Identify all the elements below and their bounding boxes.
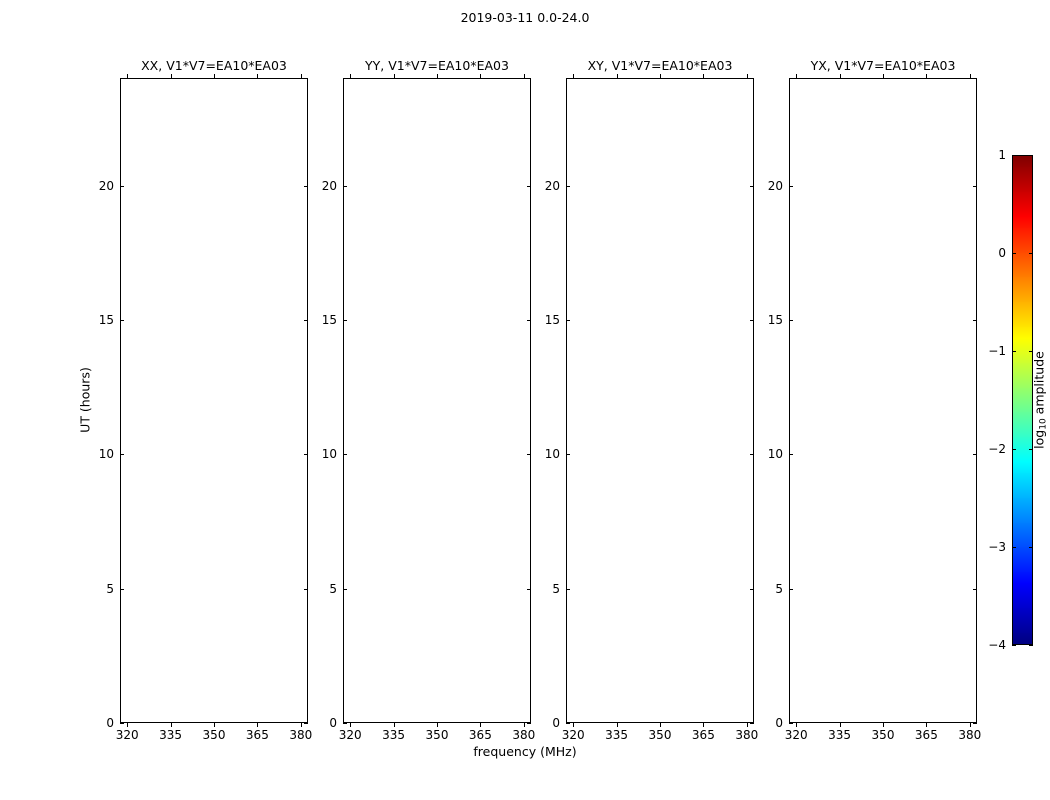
colorbar-tick-mark-right — [1029, 645, 1033, 646]
x-tick-mark-top — [480, 74, 481, 78]
y-tick-mark-right — [750, 723, 754, 724]
x-tick-label: 350 — [203, 723, 226, 742]
y-tick-mark — [120, 186, 124, 187]
y-tick-mark-right — [750, 186, 754, 187]
y-tick-mark — [343, 186, 347, 187]
x-tick-label: 365 — [246, 723, 269, 742]
panel-xy[interactable]: XY, V1*V7=EA10*EA03320335350365380051015… — [566, 78, 754, 723]
y-tick-label: 20 — [768, 179, 789, 193]
y-tick-label: 20 — [322, 179, 343, 193]
x-tick-label: 335 — [382, 723, 405, 742]
colorbar-tick-label: −2 — [988, 442, 1012, 456]
x-tick-mark-top — [926, 74, 927, 78]
x-tick-mark-top — [214, 74, 215, 78]
y-tick-label: 15 — [545, 313, 566, 327]
x-tick-label: 350 — [426, 723, 449, 742]
colorbar-tick-mark — [1012, 351, 1016, 352]
x-tick-label: 335 — [828, 723, 851, 742]
y-tick-label: 15 — [322, 313, 343, 327]
y-tick-mark — [343, 320, 347, 321]
y-tick-label: 5 — [775, 582, 789, 596]
y-tick-mark — [789, 589, 793, 590]
y-tick-label: 0 — [329, 716, 343, 730]
y-tick-label: 10 — [768, 447, 789, 461]
x-tick-mark-top — [350, 74, 351, 78]
y-tick-mark-right — [750, 454, 754, 455]
x-tick-mark-top — [747, 74, 748, 78]
y-tick-mark — [343, 454, 347, 455]
x-tick-mark-top — [796, 74, 797, 78]
x-tick-label: 365 — [915, 723, 938, 742]
y-tick-mark-right — [527, 186, 531, 187]
x-tick-mark-top — [840, 74, 841, 78]
x-tick-mark-top — [883, 74, 884, 78]
y-tick-label: 0 — [106, 716, 120, 730]
y-tick-label: 5 — [106, 582, 120, 596]
panel-frame-xy — [566, 78, 754, 723]
x-tick-mark-top — [970, 74, 971, 78]
colorbar-tick-label: −4 — [988, 638, 1012, 652]
x-tick-mark-top — [394, 74, 395, 78]
x-tick-mark-top — [171, 74, 172, 78]
y-tick-mark — [789, 454, 793, 455]
y-tick-label: 5 — [329, 582, 343, 596]
x-tick-label: 350 — [649, 723, 672, 742]
y-tick-mark-right — [973, 723, 977, 724]
y-tick-mark — [566, 723, 570, 724]
y-tick-mark-right — [304, 589, 308, 590]
x-tick-label: 380 — [958, 723, 981, 742]
colorbar[interactable]: 10−1−2−3−4 — [1012, 155, 1033, 645]
x-tick-label: 380 — [735, 723, 758, 742]
y-tick-mark-right — [527, 454, 531, 455]
x-tick-mark-top — [660, 74, 661, 78]
colorbar-tick-mark — [1012, 547, 1016, 548]
y-tick-mark-right — [973, 454, 977, 455]
y-tick-label: 20 — [545, 179, 566, 193]
y-tick-label: 10 — [545, 447, 566, 461]
x-tick-mark-top — [524, 74, 525, 78]
x-tick-mark-top — [301, 74, 302, 78]
y-tick-mark — [120, 454, 124, 455]
y-tick-mark — [566, 589, 570, 590]
panel-xx[interactable]: XX, V1*V7=EA10*EA03320335350365380051015… — [120, 78, 308, 723]
y-tick-mark-right — [973, 589, 977, 590]
x-tick-label: 365 — [469, 723, 492, 742]
y-axis-label: UT (hours) — [77, 367, 92, 433]
y-tick-mark-right — [973, 186, 977, 187]
colorbar-label: log10 amplitude — [1031, 351, 1048, 449]
y-tick-mark-right — [527, 320, 531, 321]
y-tick-mark-right — [304, 320, 308, 321]
colorbar-tick-mark-right — [1029, 253, 1033, 254]
y-tick-mark — [566, 186, 570, 187]
x-tick-mark-top — [703, 74, 704, 78]
colorbar-tick-label: −1 — [988, 344, 1012, 358]
y-tick-label: 0 — [775, 716, 789, 730]
colorbar-tick-label: −3 — [988, 540, 1012, 554]
colorbar-tick-label: 0 — [998, 246, 1012, 260]
colorbar-tick-mark — [1012, 155, 1016, 156]
y-tick-mark-right — [304, 723, 308, 724]
y-tick-mark-right — [527, 723, 531, 724]
x-axis-label: frequency (MHz) — [0, 744, 1050, 759]
x-tick-label: 380 — [512, 723, 535, 742]
y-tick-mark — [789, 186, 793, 187]
y-tick-mark — [566, 320, 570, 321]
y-tick-mark-right — [304, 186, 308, 187]
y-tick-mark-right — [973, 320, 977, 321]
y-tick-mark — [120, 589, 124, 590]
x-tick-mark-top — [573, 74, 574, 78]
y-tick-label: 10 — [99, 447, 120, 461]
colorbar-tick-mark-right — [1029, 155, 1033, 156]
colorbar-tick-mark — [1012, 645, 1016, 646]
y-tick-mark — [789, 723, 793, 724]
x-tick-label: 380 — [289, 723, 312, 742]
colorbar-tick-mark — [1012, 253, 1016, 254]
x-tick-label: 335 — [159, 723, 182, 742]
y-tick-mark-right — [750, 320, 754, 321]
y-tick-mark-right — [304, 454, 308, 455]
x-tick-mark-top — [617, 74, 618, 78]
panel-yx[interactable]: YX, V1*V7=EA10*EA03320335350365380051015… — [789, 78, 977, 723]
y-tick-label: 20 — [99, 179, 120, 193]
colorbar-tick-mark-right — [1029, 449, 1033, 450]
y-tick-mark — [343, 723, 347, 724]
colorbar-frame — [1012, 155, 1033, 645]
y-tick-label: 5 — [552, 582, 566, 596]
panel-frame-xx — [120, 78, 308, 723]
y-tick-label: 15 — [99, 313, 120, 327]
y-tick-mark-right — [527, 589, 531, 590]
figure-canvas: 2019-03-11 0.0-24.0 UT (hours) frequency… — [0, 0, 1050, 800]
x-tick-label: 350 — [872, 723, 895, 742]
y-tick-mark — [120, 320, 124, 321]
x-tick-mark-top — [437, 74, 438, 78]
figure-suptitle: 2019-03-11 0.0-24.0 — [0, 10, 1050, 25]
x-tick-mark-top — [257, 74, 258, 78]
y-tick-mark — [789, 320, 793, 321]
colorbar-tick-mark-right — [1029, 547, 1033, 548]
y-tick-mark-right — [750, 589, 754, 590]
y-tick-label: 10 — [322, 447, 343, 461]
y-tick-label: 15 — [768, 313, 789, 327]
y-tick-mark — [343, 589, 347, 590]
panel-frame-yy — [343, 78, 531, 723]
colorbar-tick-mark — [1012, 449, 1016, 450]
panel-yy[interactable]: YY, V1*V7=EA10*EA03320335350365380051015… — [343, 78, 531, 723]
y-tick-mark — [120, 723, 124, 724]
panel-frame-yx — [789, 78, 977, 723]
y-tick-mark — [566, 454, 570, 455]
x-tick-label: 335 — [605, 723, 628, 742]
y-tick-label: 0 — [552, 716, 566, 730]
x-tick-label: 365 — [692, 723, 715, 742]
x-tick-mark-top — [127, 74, 128, 78]
colorbar-tick-label: 1 — [998, 148, 1012, 162]
